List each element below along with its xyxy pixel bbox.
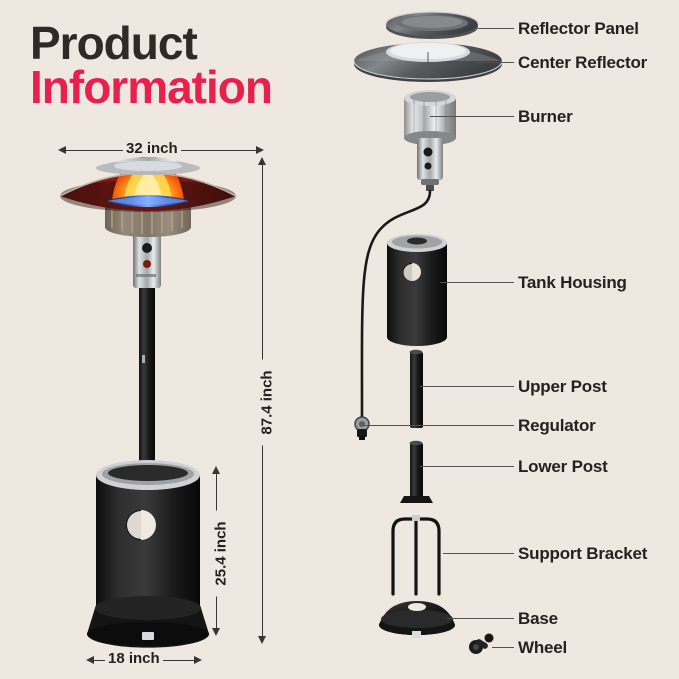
dimension-arrow-left-width-top	[58, 146, 66, 154]
part-label-upper-post: Upper Post	[518, 377, 607, 397]
part-wheel-art	[469, 634, 494, 655]
page-title-line1: Product	[30, 22, 272, 66]
part-label-lower-post: Lower Post	[518, 457, 608, 477]
support-bracket-cap	[412, 515, 420, 521]
page-title: Product Information	[30, 22, 272, 109]
leader-line-tank-housing	[440, 282, 514, 283]
product-information-infographic: Product Information	[0, 0, 679, 679]
part-label-tank-housing: Tank Housing	[518, 273, 627, 293]
part-label-burner: Burner	[518, 107, 573, 127]
leader-line-burner	[430, 116, 514, 117]
dimension-arrow-down-height-total	[258, 636, 266, 644]
part-label-center-reflector: Center Reflector	[518, 53, 647, 73]
dimension-arrow-left-width-base	[86, 656, 94, 664]
exploded-parts-illustration	[354, 12, 502, 654]
part-reflector-panel-art	[386, 12, 478, 39]
leader-line-center-reflector	[476, 62, 514, 63]
part-label-regulator: Regulator	[518, 416, 596, 436]
part-support-bracket-art	[393, 519, 439, 594]
part-tank-housing-art	[387, 234, 447, 346]
dimension-arrow-right-width-base	[194, 656, 202, 664]
leader-line-upper-post	[420, 386, 514, 387]
leader-line-support-bracket	[443, 553, 514, 554]
leader-line-lower-post	[420, 466, 514, 467]
part-base-art	[379, 601, 455, 638]
assembled-heater-illustration	[60, 156, 236, 648]
leader-line-wheel	[492, 647, 514, 648]
dimension-arrow-down-height-tank	[212, 628, 220, 636]
leader-line-regulator	[364, 425, 514, 426]
part-lower-post-art	[400, 441, 433, 503]
dimension-arrow-up-height-tank	[212, 466, 220, 474]
leader-line-base	[447, 618, 514, 619]
part-burner-art	[404, 90, 456, 191]
dimension-label-width-base: 18 inch	[105, 650, 163, 667]
part-regulator-art	[355, 417, 369, 440]
dimension-arrow-up-height-total	[258, 157, 266, 165]
dimension-label-height-total: 87.4 inch	[259, 360, 276, 446]
part-label-base: Base	[518, 609, 558, 629]
part-upper-post-art	[410, 350, 424, 428]
dimension-arrow-right-width-top	[256, 146, 264, 154]
leader-line-reflector-panel	[478, 28, 514, 29]
dimension-label-height-tank: 25.4 inch	[213, 511, 230, 597]
part-label-reflector-panel: Reflector Panel	[518, 19, 639, 39]
page-title-line2: Information	[30, 66, 272, 110]
dimension-label-width-top: 32 inch	[123, 140, 181, 157]
part-label-support-bracket: Support Bracket	[518, 544, 647, 564]
part-label-wheel: Wheel	[518, 638, 567, 658]
